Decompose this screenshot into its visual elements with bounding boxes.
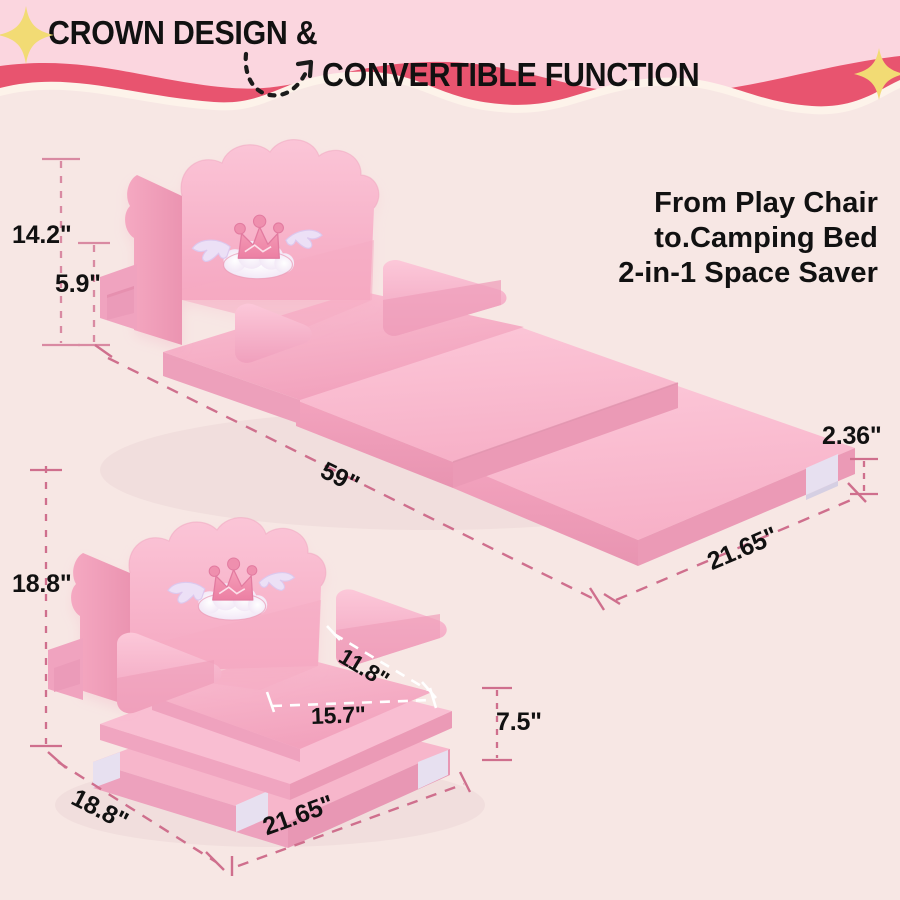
dimension-label-bed-seat-height: 5.9" xyxy=(55,270,101,299)
header-title-group: CROWN DESIGN & CONVERTIBLE FUNCTION xyxy=(0,0,900,118)
bed-side-handle xyxy=(100,264,137,330)
dimension-label-bed-height-total: 14.2" xyxy=(12,221,72,250)
dimension-label-chair-seat-width: 15.7" xyxy=(311,701,367,730)
play-chair-illustration xyxy=(48,518,485,848)
curved-dashed-arrow-icon xyxy=(240,48,350,104)
promo-line-3: 2-in-1 Space Saver xyxy=(486,256,878,291)
dimension-label-chair-seat-height: 7.5" xyxy=(496,708,542,737)
sparkle-star-right-icon xyxy=(852,46,900,102)
promo-text-block: From Play Chair to.Camping Bed 2-in-1 Sp… xyxy=(486,186,878,291)
dimension-label-bed-thickness: 2.36" xyxy=(822,422,882,451)
sparkle-star-left-icon xyxy=(0,4,56,66)
chair-side-handle xyxy=(48,638,83,700)
infographic-canvas: 14.2" 5.9" 59" 21.65" 2.36" 18.8" 11.8" … xyxy=(0,0,900,900)
header-title-line-2: CONVERTIBLE FUNCTION xyxy=(322,56,699,94)
header-banner: CROWN DESIGN & CONVERTIBLE FUNCTION xyxy=(0,0,900,118)
promo-line-2: to.Camping Bed xyxy=(486,221,878,256)
promo-line-1: From Play Chair xyxy=(486,186,878,221)
dimension-label-chair-height: 18.8" xyxy=(12,570,72,599)
header-title-line-1: CROWN DESIGN & xyxy=(48,14,317,52)
product-illustration xyxy=(0,0,900,900)
